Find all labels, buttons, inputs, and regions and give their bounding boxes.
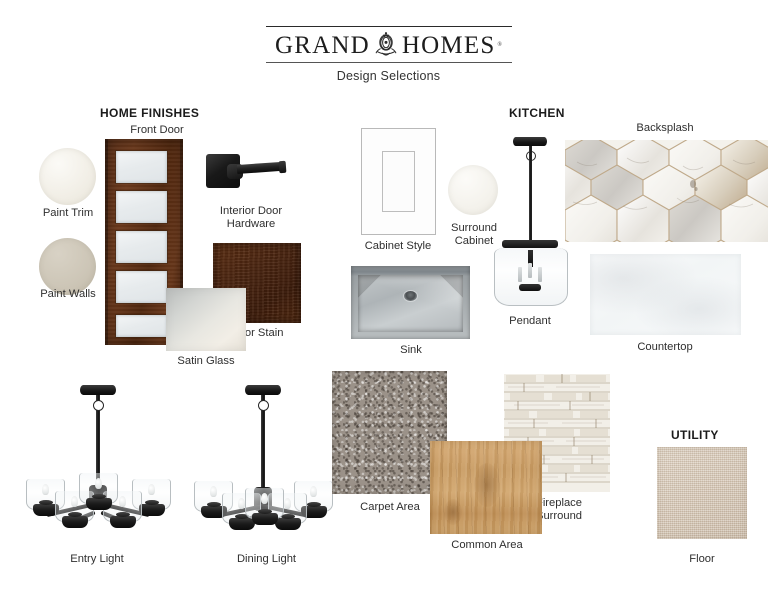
label-backsplash: Backsplash (600, 122, 730, 135)
brand-header: GRAND (0, 26, 777, 85)
swatch-common-area[interactable] (430, 441, 542, 534)
chandelier-shade (245, 488, 284, 519)
pendant-canopy (513, 137, 547, 146)
swatch-paint-walls[interactable] (39, 238, 96, 295)
section-heading-kitchen: KITCHEN (509, 106, 565, 120)
bulb-icon (284, 498, 291, 509)
chandelier-canopy (245, 385, 281, 395)
brand-word-homes: HOMES (402, 33, 496, 58)
pendant-candle (528, 263, 532, 278)
bulb-icon (310, 486, 317, 497)
label-cabinet-style: Cabinet Style (348, 240, 448, 253)
chandelier-loop (258, 400, 269, 411)
section-heading-home-finishes: HOME FINISHES (100, 106, 199, 120)
heraldic-crest-icon (371, 30, 401, 60)
cabinet-inset-panel (382, 151, 415, 212)
swatch-satin-glass[interactable] (166, 288, 246, 351)
door-glass-panel (116, 151, 167, 183)
bulb-icon (71, 496, 78, 507)
bulb-icon (42, 484, 49, 495)
door-glass-panel (116, 231, 167, 263)
swatch-backsplash[interactable] (565, 140, 768, 242)
shade-cup (110, 516, 136, 528)
swatch-utility-floor[interactable] (657, 447, 747, 539)
shade-cup (252, 513, 278, 525)
sink-drain-icon (404, 291, 417, 301)
chandelier-canopy (80, 385, 116, 395)
swatch-cabinet-style[interactable] (361, 128, 436, 235)
section-heading-utility: UTILITY (671, 428, 719, 442)
label-front-door: Front Door (95, 124, 219, 137)
bulb-icon (148, 484, 155, 495)
label-interior-door-hardware: Interior Door Hardware (196, 205, 306, 231)
label-pendant: Pendant (498, 315, 562, 328)
bulb-icon (119, 496, 126, 507)
wood-grain-knot (444, 499, 462, 525)
lever-handle-bar (237, 162, 283, 174)
pendant-collar (502, 240, 558, 248)
swatch-dining-light[interactable] (190, 385, 335, 535)
label-common-area: Common Area (436, 539, 538, 552)
swatch-entry-light[interactable] (20, 385, 175, 535)
pendant-candle (538, 267, 542, 282)
label-paint-walls: Paint Walls (21, 288, 115, 301)
label-satin-glass: Satin Glass (156, 355, 256, 368)
pendant-base (519, 284, 541, 291)
shade-cup (86, 498, 112, 510)
door-glass-panel (116, 191, 167, 223)
label-countertop: Countertop (605, 341, 725, 354)
swatch-sink[interactable] (351, 266, 470, 339)
pendant-candle (518, 267, 522, 282)
chandelier-loop (93, 400, 104, 411)
label-dining-light: Dining Light (214, 553, 319, 566)
brand-word-grand: GRAND (275, 33, 370, 58)
door-glass-panel (116, 271, 167, 303)
swatch-countertop[interactable] (590, 254, 741, 335)
wood-grain-knot (474, 463, 500, 507)
bulb-icon (210, 486, 217, 497)
swatch-paint-trim[interactable] (39, 148, 96, 205)
sink-corner-shading (358, 275, 463, 332)
pendant-rod (529, 146, 532, 240)
swatch-interior-door-hardware[interactable] (206, 148, 292, 198)
door-glass-panel (116, 315, 167, 337)
bulb-icon (261, 493, 268, 504)
label-entry-light: Entry Light (47, 553, 147, 566)
bulb-icon (238, 498, 245, 509)
chandelier-shade (79, 473, 118, 504)
label-utility-floor: Floor (666, 553, 738, 566)
brand-logo: GRAND (266, 26, 512, 83)
bulb-icon (95, 478, 102, 489)
registered-mark: ® (497, 42, 502, 48)
shade-cup (275, 518, 301, 530)
shade-cup (62, 516, 88, 528)
label-sink: Sink (381, 344, 441, 357)
design-selections-board: GRAND (0, 0, 777, 600)
swatch-pendant[interactable] (490, 137, 570, 302)
brand-subtitle: Design Selections (266, 69, 512, 83)
label-paint-trim: Paint Trim (21, 207, 115, 220)
shade-cup (139, 504, 165, 516)
label-carpet-area: Carpet Area (338, 501, 442, 514)
sink-basin (358, 275, 463, 332)
lever-end-cap (279, 161, 287, 173)
logo-rule-bottom (266, 62, 512, 63)
shade-cup (229, 518, 255, 530)
